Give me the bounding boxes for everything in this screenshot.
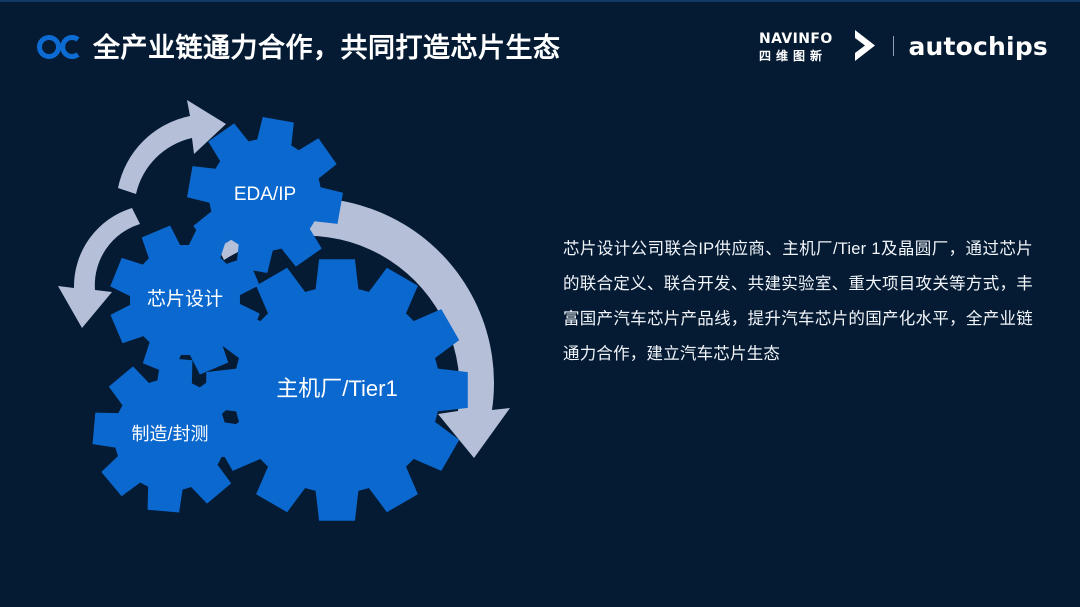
navinfo-latin-text: NAVINFO <box>759 31 833 47</box>
description-paragraph: 芯片设计公司联合IP供应商、主机厂/Tier 1及晶圆厂，通过芯片的联合定义、联… <box>563 232 1033 372</box>
gear-oem-tier1: 主机厂/Tier1 <box>206 259 468 521</box>
chevron-right-icon <box>855 30 875 61</box>
page-title: 全产业链通力合作，共同打造芯片生态 <box>93 29 561 67</box>
navinfo-chinese-text: 四维图新 <box>759 48 827 63</box>
gear-diagram-svg: EDA/IP芯片设计制造/封测主机厂/Tier1 <box>40 80 560 580</box>
slide-header: 全产业链通力合作，共同打造芯片生态 NAVINFO 四维图新 autochips <box>0 0 1080 88</box>
gears-layer: EDA/IP芯片设计制造/封测主机厂/Tier1 <box>93 117 468 521</box>
presentation-slide: 全产业链通力合作，共同打造芯片生态 NAVINFO 四维图新 autochips <box>0 0 1080 607</box>
supply-chain-gear-diagram: EDA/IP芯片设计制造/封测主机厂/Tier1 <box>40 80 560 580</box>
brand-lockup: NAVINFO 四维图新 autochips <box>759 28 1048 64</box>
brand-divider <box>893 36 894 56</box>
oc-logo-icon <box>36 32 82 62</box>
navinfo-logo-icon: NAVINFO 四维图新 <box>759 28 881 64</box>
gear-label-manufacturing-test: 制造/封测 <box>131 424 208 444</box>
oc-logo-svg <box>36 32 82 62</box>
gear-label-chip-design: 芯片设计 <box>147 288 223 310</box>
gear-label-eda-ip: EDA/IP <box>234 184 296 205</box>
autochips-wordmark: autochips <box>908 34 1048 59</box>
gear-label-oem-tier1: 主机厂/Tier1 <box>276 376 397 401</box>
